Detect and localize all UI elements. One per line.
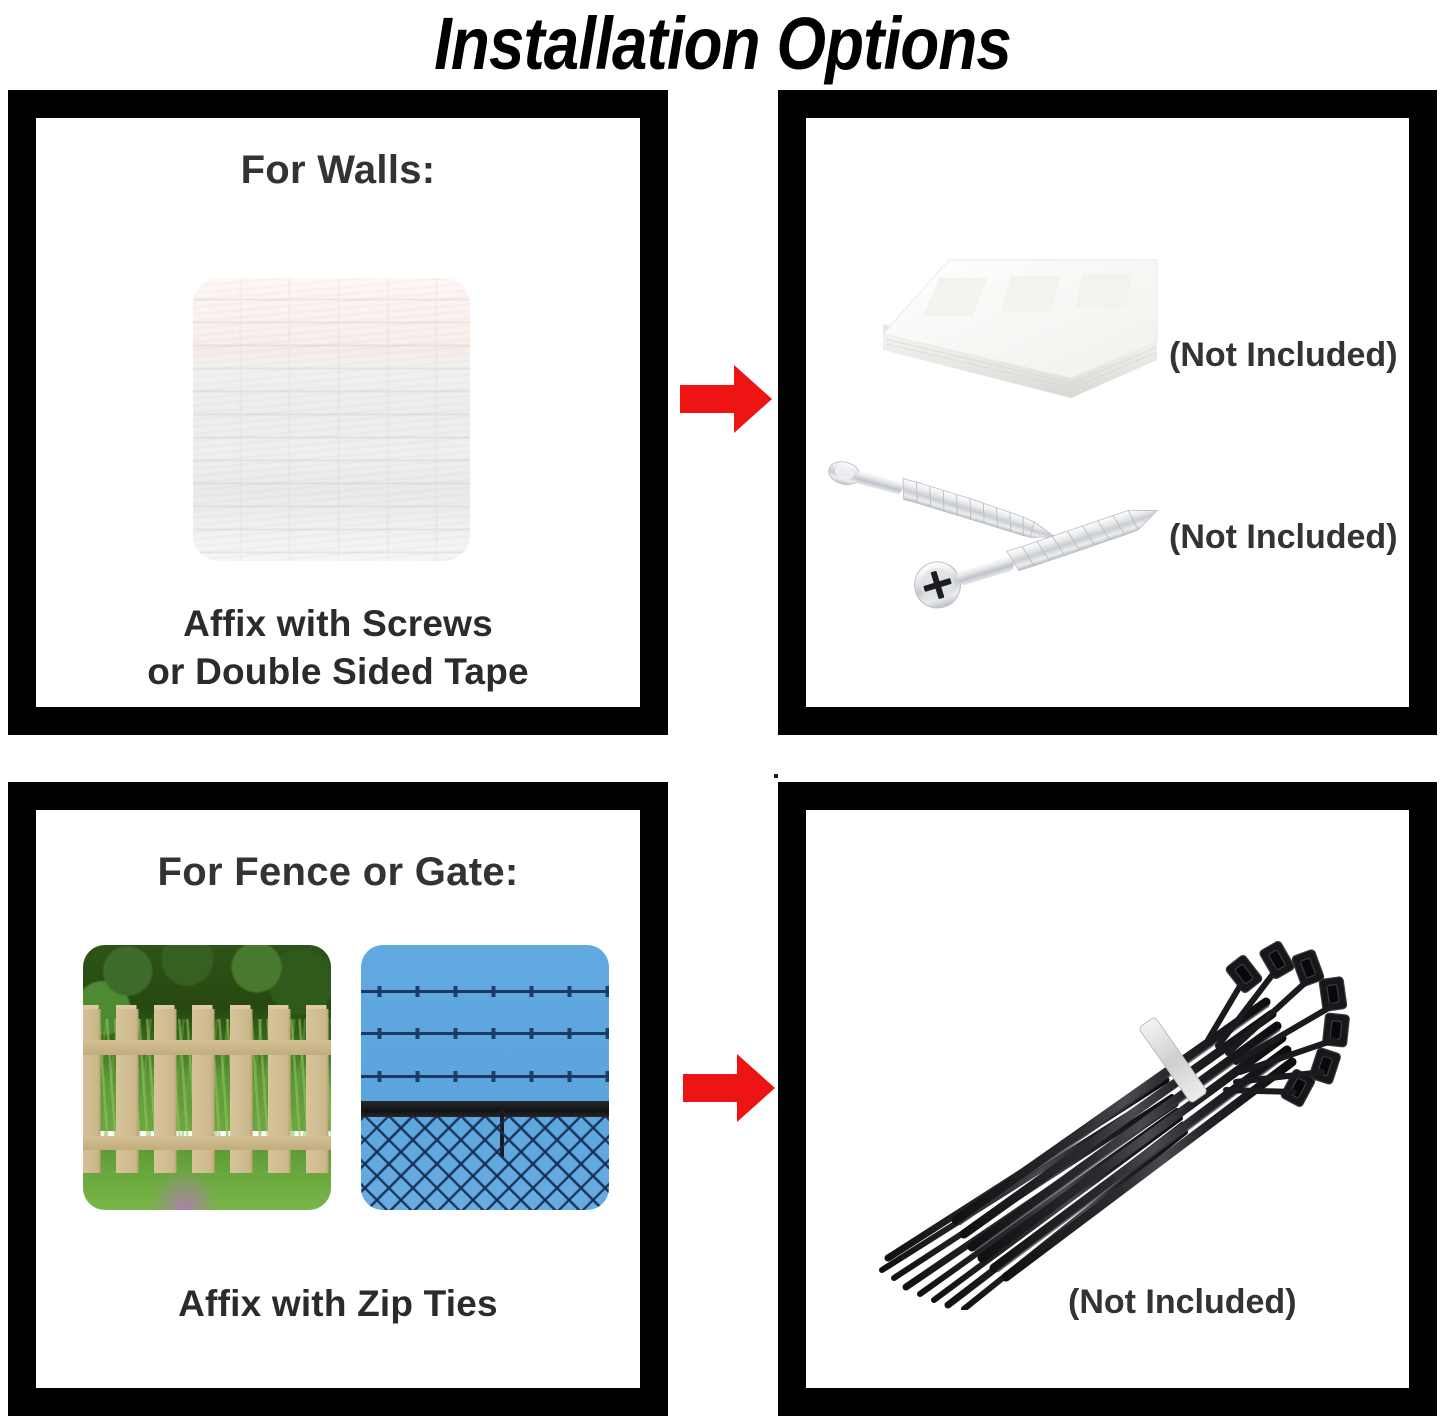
wooden-picket-fence-image [83,945,331,1210]
chain-link-mesh [361,1117,609,1210]
panel-wall-hardware: (Not Included) [778,90,1437,735]
black-zip-ties-image [836,890,1356,1310]
for-walls-caption: Affix with Screws or Double Sided Tape [36,600,640,696]
for-walls-heading: For Walls: [36,148,640,193]
for-walls-caption-line-2: or Double Sided Tape [36,648,640,696]
chain-link-top-rail [361,1101,609,1117]
panel-for-fence-or-gate: For Fence or Gate: Affix with Zip Ties [8,782,668,1416]
red-right-arrow-icon [681,1051,777,1125]
white-brick-wall-image [193,278,470,561]
panel-fence-hardware: (Not Included) [778,782,1437,1416]
for-walls-caption-line-1: Affix with Screws [36,600,640,648]
panel-for-walls: For Walls: Affix with Screws or Double S… [8,90,668,735]
zip-ties-not-included-label: (Not Included) [1068,1283,1297,1322]
fence-rail-bottom [83,1136,331,1151]
page-title: Installation Options [101,2,1344,86]
panel-for-fence-content: For Fence or Gate: Affix with Zip Ties [36,810,640,1388]
wall-grain-texture [193,278,470,561]
barbed-wire-strand-2 [361,1032,609,1035]
screws-not-included-label: (Not Included) [1169,518,1398,557]
stray-dot-artifact [774,774,778,778]
panel-for-walls-content: For Walls: Affix with Screws or Double S… [36,118,640,707]
panel-wall-hardware-content: (Not Included) [806,118,1409,707]
chain-link-fence-image [361,945,609,1210]
for-fence-or-gate-heading: For Fence or Gate: [36,850,640,895]
tape-not-included-label: (Not Included) [1169,336,1398,375]
double-sided-tape-stack-image [861,238,1161,423]
barbed-wire-strand-1 [361,990,609,993]
wood-screws-image [826,448,1186,633]
for-fence-caption: Affix with Zip Ties [36,1280,640,1328]
panel-fence-hardware-content: (Not Included) [806,810,1409,1388]
red-right-arrow-icon [678,362,774,436]
fence-rail-top [83,1040,331,1055]
barbed-wire-strand-3 [361,1075,609,1078]
